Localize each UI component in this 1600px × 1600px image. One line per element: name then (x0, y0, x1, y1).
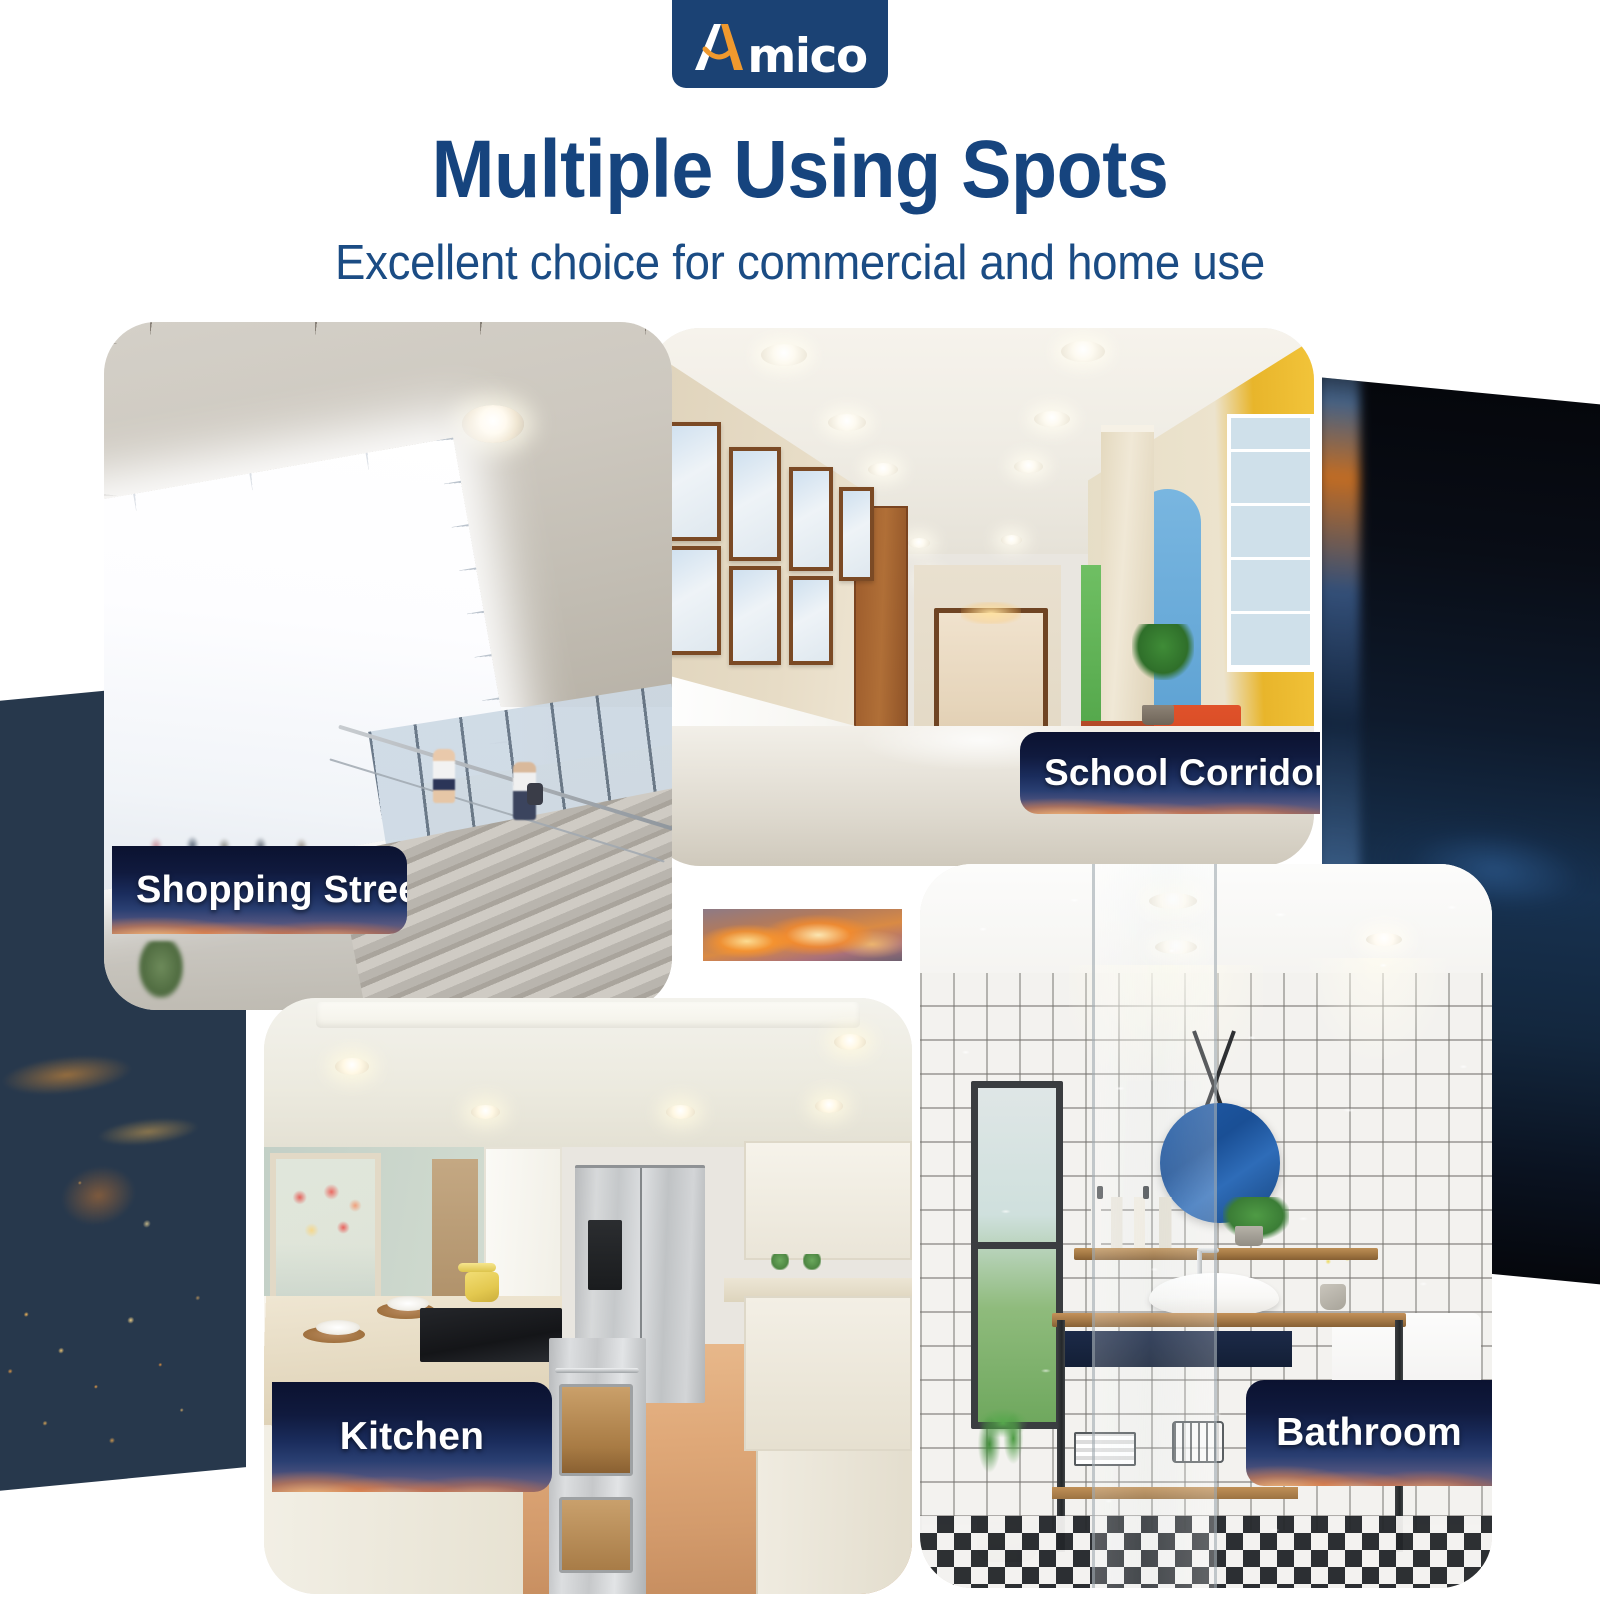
small-plant (771, 1254, 789, 1270)
small-plant (803, 1254, 821, 1270)
oven-handle (555, 1368, 639, 1373)
scene-card-kitchen[interactable] (264, 998, 912, 1594)
wall-light-wash (1309, 958, 1446, 1059)
brand-logo-badge[interactable]: mico (672, 0, 888, 88)
shopper-figure (433, 749, 455, 803)
potted-plant (1132, 624, 1194, 680)
label-text: School Corridor (1044, 752, 1320, 794)
water-dispenser (588, 1220, 622, 1291)
flower-vase (1320, 1284, 1346, 1310)
floral-painting (276, 1159, 374, 1296)
glass-shower-screen (1092, 864, 1218, 1588)
recessed-downlight (462, 405, 524, 443)
page-subtitle: Excellent choice for commercial and home… (56, 237, 1544, 291)
backpack (527, 783, 543, 805)
infographic-canvas: mico Multiple Using Spots Excellent choi… (0, 0, 1600, 1600)
logo-a-icon (693, 22, 745, 72)
framed-artwork (789, 467, 833, 571)
label-text: Kitchen (340, 1415, 484, 1459)
tray-ceiling (316, 1002, 860, 1027)
plant-pot (1235, 1226, 1263, 1246)
wall-artwork (270, 1153, 380, 1302)
recessed-downlight (335, 1058, 369, 1075)
plant-pot (1142, 705, 1174, 725)
recessed-downlight (908, 538, 930, 548)
oven-window (559, 1384, 633, 1476)
recessed-downlight (834, 1034, 866, 1050)
artwork-gallery (661, 393, 854, 640)
page-title: Multiple Using Spots (64, 128, 1536, 212)
recessed-downlight (868, 463, 898, 476)
label-text: Bathroom (1276, 1411, 1462, 1455)
label-badge-bathroom[interactable]: Bathroom (1246, 1380, 1492, 1486)
corridor-window (1227, 414, 1314, 672)
recessed-downlight (1366, 933, 1402, 946)
label-badge-shopping-street[interactable]: Shopping Street (112, 846, 407, 934)
indoor-tree (138, 941, 184, 999)
framed-artwork (729, 566, 781, 665)
upper-cabinets (744, 1141, 912, 1260)
flame-accent-strip (700, 906, 905, 964)
plate (316, 1320, 360, 1335)
cooktop (420, 1308, 563, 1362)
floor-plant (960, 1400, 1046, 1496)
label-badge-school-corridor[interactable]: School Corridor (1020, 732, 1320, 814)
logo-wordmark-text: mico (747, 33, 866, 80)
label-text: Shopping Street (136, 869, 407, 912)
side-cabinets (744, 1296, 912, 1451)
bathroom-window (971, 1081, 1063, 1429)
pot-lid (458, 1263, 496, 1272)
brand-wordmark: mico (693, 22, 866, 74)
oven-range (549, 1338, 646, 1594)
framed-artwork (839, 487, 874, 581)
framed-artwork (729, 447, 781, 561)
oven-window (559, 1497, 633, 1574)
window-mullion (978, 1242, 1056, 1249)
yellow-pot (465, 1272, 499, 1302)
recessed-downlight (1014, 460, 1043, 473)
framed-artwork (789, 576, 833, 665)
doorway-light (961, 602, 1021, 624)
label-badge-kitchen[interactable]: Kitchen (272, 1382, 552, 1492)
